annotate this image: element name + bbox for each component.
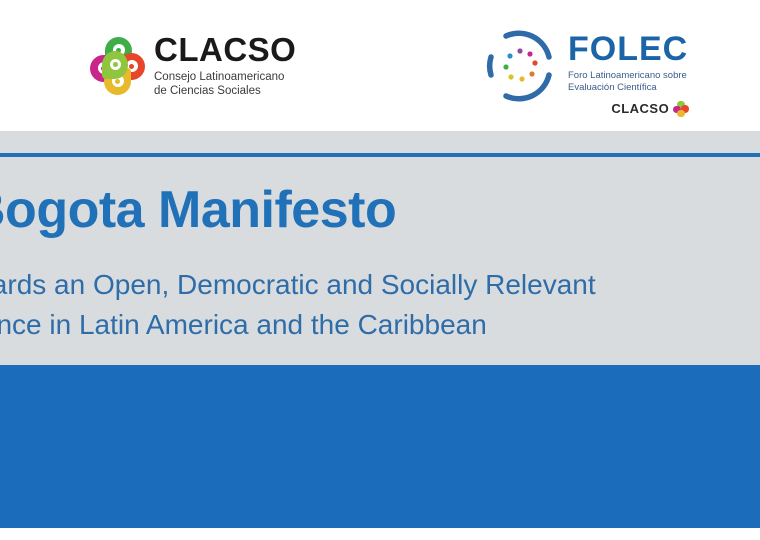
folec-logo: FOLEC Foro Latinoamericano sobre Evaluac… — [482, 27, 688, 117]
clacso-wordmark: CLACSO — [154, 33, 296, 66]
logo-header-band: CLACSO Consejo Latinoamericano de Cienci… — [0, 0, 760, 131]
folec-swirl-svg — [482, 27, 558, 105]
bottom-blue-block — [0, 365, 760, 528]
accent-divider-rule — [0, 153, 760, 157]
folec-endorser-lockup: CLACSO — [568, 101, 688, 117]
page-subtitle: Towards an Open, Democratic and Socially… — [0, 265, 760, 345]
folec-endorser-label: CLACSO — [611, 101, 669, 116]
bottom-white-margin — [0, 528, 760, 540]
page-title: Bogota Manifesto — [0, 183, 760, 238]
slide-canvas: CLACSO Consejo Latinoamericano de Cienci… — [0, 0, 760, 540]
clacso-logo: CLACSO Consejo Latinoamericano de Cienci… — [88, 33, 296, 99]
clacso-flower-mark — [88, 35, 144, 97]
petal-dot — [113, 62, 118, 67]
clacso-text-block: CLACSO Consejo Latinoamericano de Cienci… — [154, 33, 296, 99]
folec-wordmark: FOLEC — [568, 32, 688, 66]
folec-swirl-mark — [482, 27, 558, 105]
clacso-tagline: Consejo Latinoamericano de Ciencias Soci… — [154, 70, 296, 99]
folec-tagline: Foro Latinoamericano sobre Evaluación Ci… — [568, 70, 688, 95]
clacso-mini-flower-icon — [673, 101, 688, 117]
petal-dot — [115, 79, 120, 84]
folec-text-block: FOLEC Foro Latinoamericano sobre Evaluac… — [568, 27, 688, 117]
mini-petal-bottom — [677, 110, 685, 118]
clacso-petal-lime — [102, 51, 128, 79]
